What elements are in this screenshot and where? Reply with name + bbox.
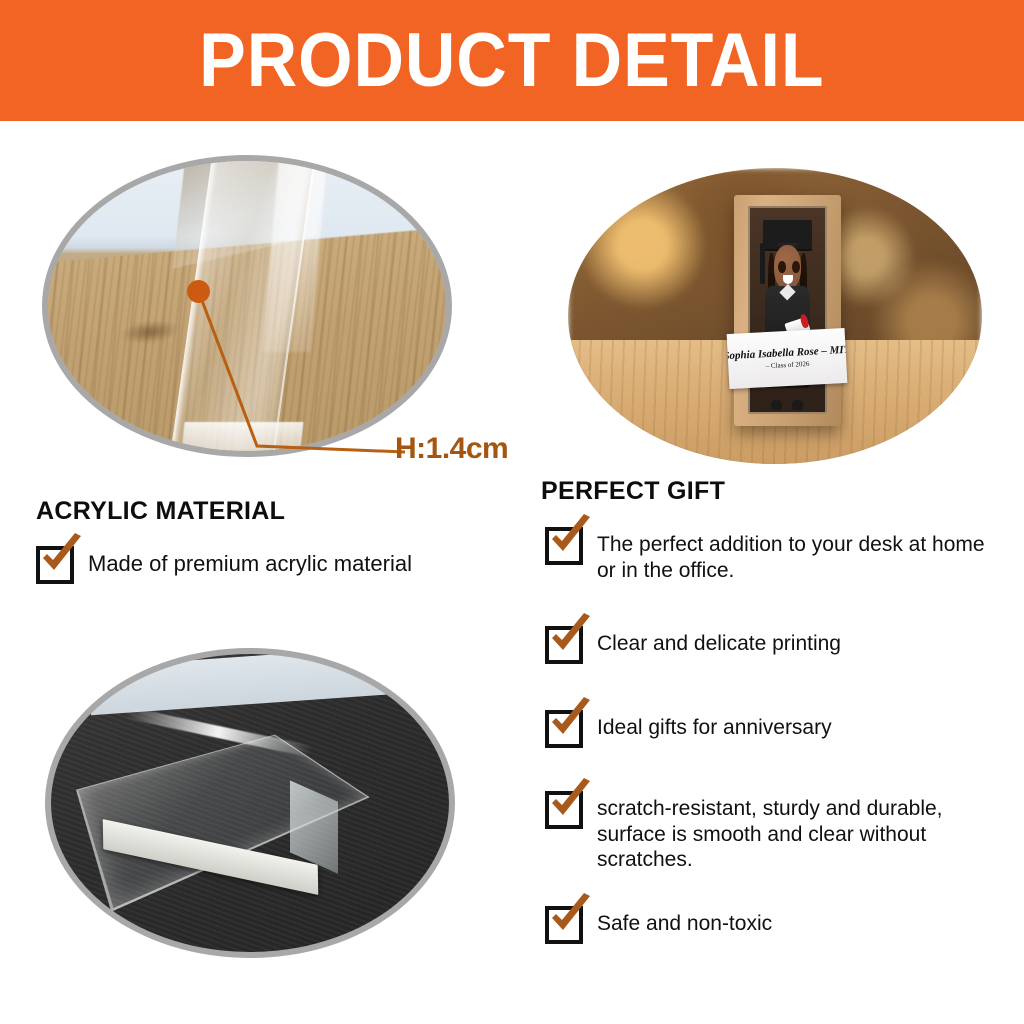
acrylic-block-photo — [45, 648, 455, 958]
checkmark-icon — [546, 515, 594, 563]
bullet-text: scratch-resistant, sturdy and durable, s… — [597, 791, 1000, 873]
gift-box-photo: Sophia Isabella Rose – MIT – Class of 20… — [568, 168, 982, 464]
bullet-text: The perfect addition to your desk at hom… — [597, 527, 995, 583]
section-heading-acrylic-material: ACRYLIC MATERIAL — [36, 497, 285, 526]
checkbox-icon — [545, 710, 583, 748]
checkmark-icon — [546, 614, 594, 662]
height-measurement-label: H:1.4cm — [395, 432, 508, 466]
header-banner: PRODUCT DETAIL — [0, 0, 1024, 121]
checkbox-icon — [545, 791, 583, 829]
bullet-item: Safe and non-toxic — [545, 906, 995, 944]
page-title: PRODUCT DETAIL — [199, 23, 824, 99]
checkmark-icon — [37, 534, 85, 582]
bullet-item: The perfect addition to your desk at hom… — [545, 527, 995, 583]
figurine-eye-right — [792, 261, 800, 273]
checkmark-icon — [546, 779, 594, 827]
checkbox-icon — [545, 626, 583, 664]
figurine-shoe-right — [792, 400, 803, 410]
acrylic-edge-photo — [42, 155, 452, 457]
box-name-band: Sophia Isabella Rose – MIT – Class of 20… — [727, 328, 848, 390]
product-gift-box: Sophia Isabella Rose – MIT – Class of 20… — [734, 195, 842, 426]
checkbox-icon — [36, 546, 74, 584]
section-heading-perfect-gift: PERFECT GIFT — [541, 477, 725, 506]
figurine-smile — [783, 275, 793, 283]
checkmark-icon — [546, 894, 594, 942]
box-label-class: – Class of 2026 — [766, 360, 810, 370]
bullet-item: Ideal gifts for anniversary — [545, 710, 995, 748]
bullet-text: Safe and non-toxic — [597, 906, 772, 937]
bullet-item: scratch-resistant, sturdy and durable, s… — [545, 791, 1000, 873]
acrylic-base-edge — [182, 422, 304, 451]
bullet-item: Clear and delicate printing — [545, 626, 995, 664]
callout-dot — [187, 280, 210, 303]
backdrop-strip — [91, 648, 455, 715]
cap-tassel — [760, 243, 765, 284]
slate-background — [51, 654, 449, 952]
checkmark-icon — [546, 698, 594, 746]
checkbox-icon — [545, 906, 583, 944]
bullet-text: Made of premium acrylic material — [88, 546, 412, 578]
bullet-item: Made of premium acrylic material — [36, 546, 506, 584]
figurine-shoe-left — [771, 400, 782, 410]
checkbox-icon — [545, 527, 583, 565]
bullet-text: Clear and delicate printing — [597, 626, 841, 657]
photo-background — [48, 161, 446, 451]
bullet-text: Ideal gifts for anniversary — [597, 710, 832, 741]
